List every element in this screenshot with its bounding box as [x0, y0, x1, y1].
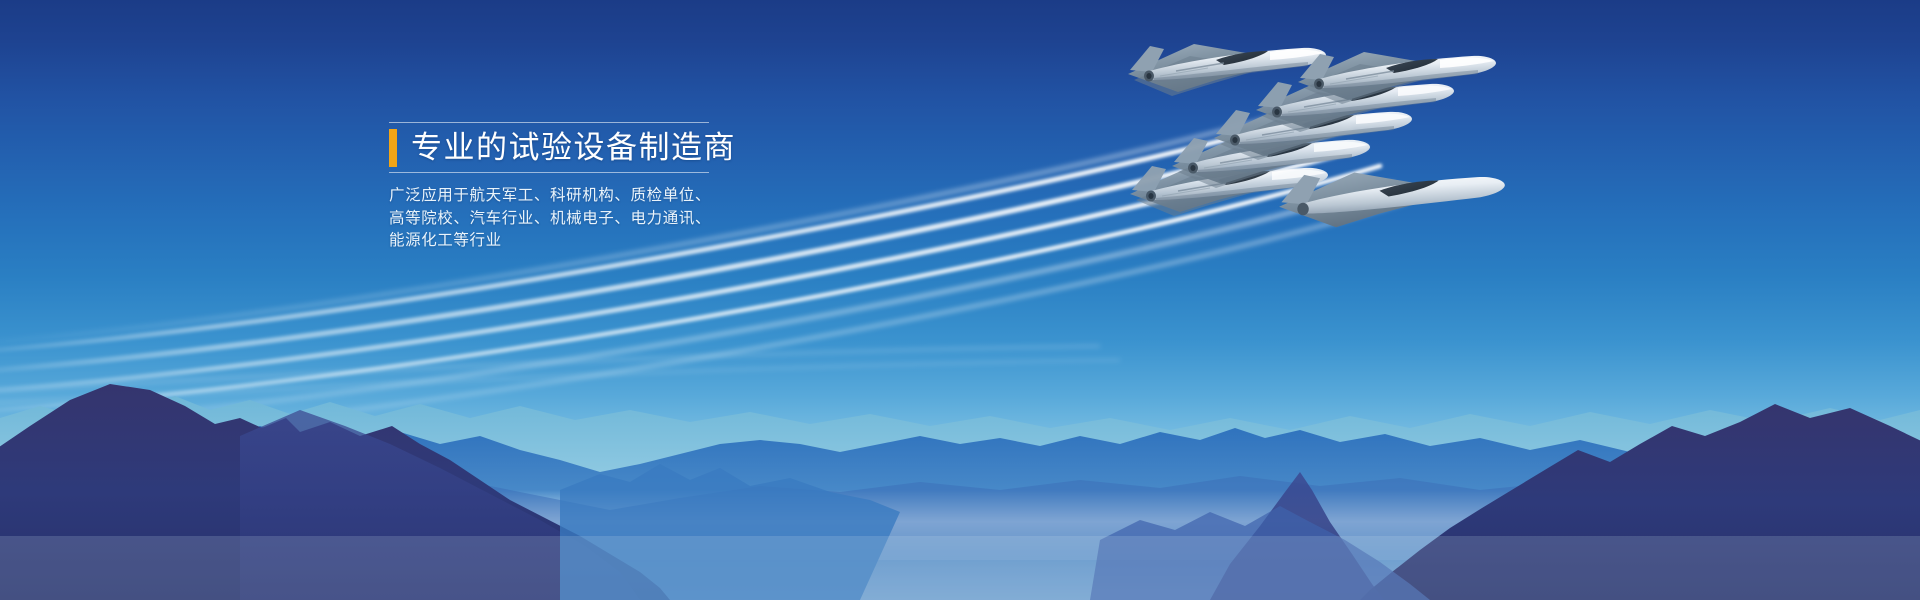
headline-row: 专业的试验设备制造商 — [389, 123, 749, 172]
mountain-range-silhouette — [0, 340, 1920, 600]
description-line-3: 能源化工等行业 — [389, 229, 749, 252]
banner-description: 广泛应用于航天军工、科研机构、质检单位、 高等院校、汽车行业、机械电子、电力通讯… — [389, 173, 749, 252]
description-line-2: 高等院校、汽车行业、机械电子、电力通讯、 — [389, 207, 749, 230]
banner-copy: 专业的试验设备制造商 广泛应用于航天军工、科研机构、质检单位、 高等院校、汽车行… — [389, 122, 749, 252]
description-line-1: 广泛应用于航天军工、科研机构、质检单位、 — [389, 184, 749, 207]
accent-bar — [389, 129, 397, 167]
page-title: 专业的试验设备制造商 — [411, 129, 736, 167]
fighter-jet-formation — [1120, 40, 1520, 280]
hero-banner: 专业的试验设备制造商 广泛应用于航天军工、科研机构、质检单位、 高等院校、汽车行… — [0, 0, 1920, 600]
